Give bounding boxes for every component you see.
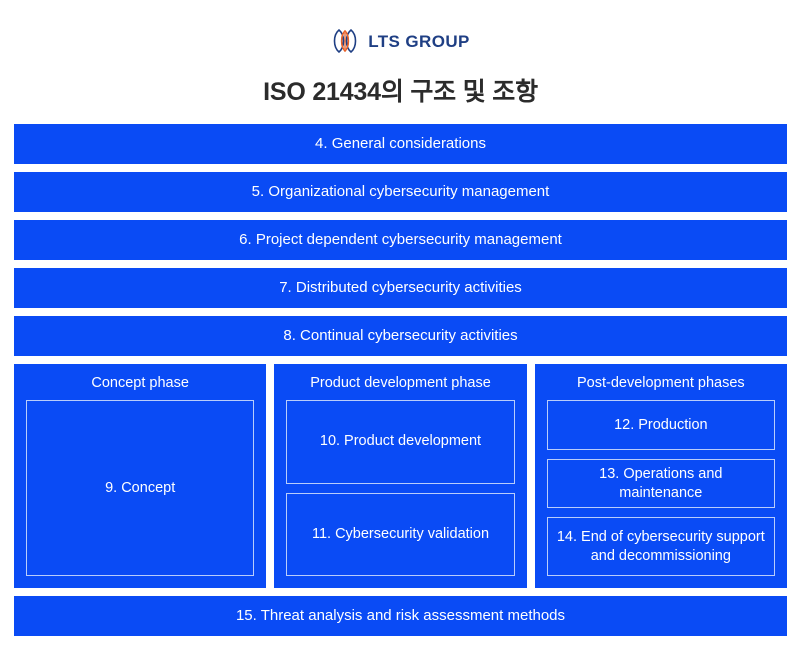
phase-column-post-development: Post-development phases 12. Production 1…	[535, 364, 787, 588]
clause-band-15: 15. Threat analysis and risk assessment …	[14, 596, 787, 636]
clause-box-13: 13. Operations and maintenance	[547, 459, 775, 509]
iso-structure-diagram: 4. General considerations 5. Organizatio…	[14, 124, 787, 636]
clause-band-4: 4. General considerations	[14, 124, 787, 164]
clause-band-7: 7. Distributed cybersecurity activities	[14, 268, 787, 308]
phase-title-concept: Concept phase	[26, 374, 254, 400]
brand-name: LTS GROUP	[368, 33, 470, 50]
clause-box-12: 12. Production	[547, 400, 775, 450]
phase-boxes-post-development: 12. Production 13. Operations and mainte…	[547, 400, 775, 576]
phase-boxes-product-development: 10. Product development 11. Cybersecurit…	[286, 400, 514, 576]
page-title: ISO 21434의 구조 및 조항	[0, 77, 801, 107]
phase-title-post-development: Post-development phases	[547, 374, 775, 400]
clause-box-9: 9. Concept	[26, 400, 254, 576]
phase-columns: Concept phase 9. Concept Product develop…	[14, 364, 787, 588]
phase-title-product-development: Product development phase	[286, 374, 514, 400]
brand-logo: LTS GROUP	[0, 26, 801, 56]
clause-band-5: 5. Organizational cybersecurity manageme…	[14, 172, 787, 212]
clause-box-14: 14. End of cybersecurity support and dec…	[547, 517, 775, 576]
clause-box-10: 10. Product development	[286, 400, 514, 483]
diagram-page: LTS GROUP ISO 21434의 구조 및 조항 4. General …	[0, 0, 801, 654]
clause-box-11: 11. Cybersecurity validation	[286, 493, 514, 576]
clause-band-6: 6. Project dependent cybersecurity manag…	[14, 220, 787, 260]
phase-boxes-concept: 9. Concept	[26, 400, 254, 576]
phase-column-product-development: Product development phase 10. Product de…	[274, 364, 526, 588]
lts-group-logo-icon	[331, 28, 359, 54]
clause-band-8: 8. Continual cybersecurity activities	[14, 316, 787, 356]
phase-column-concept: Concept phase 9. Concept	[14, 364, 266, 588]
